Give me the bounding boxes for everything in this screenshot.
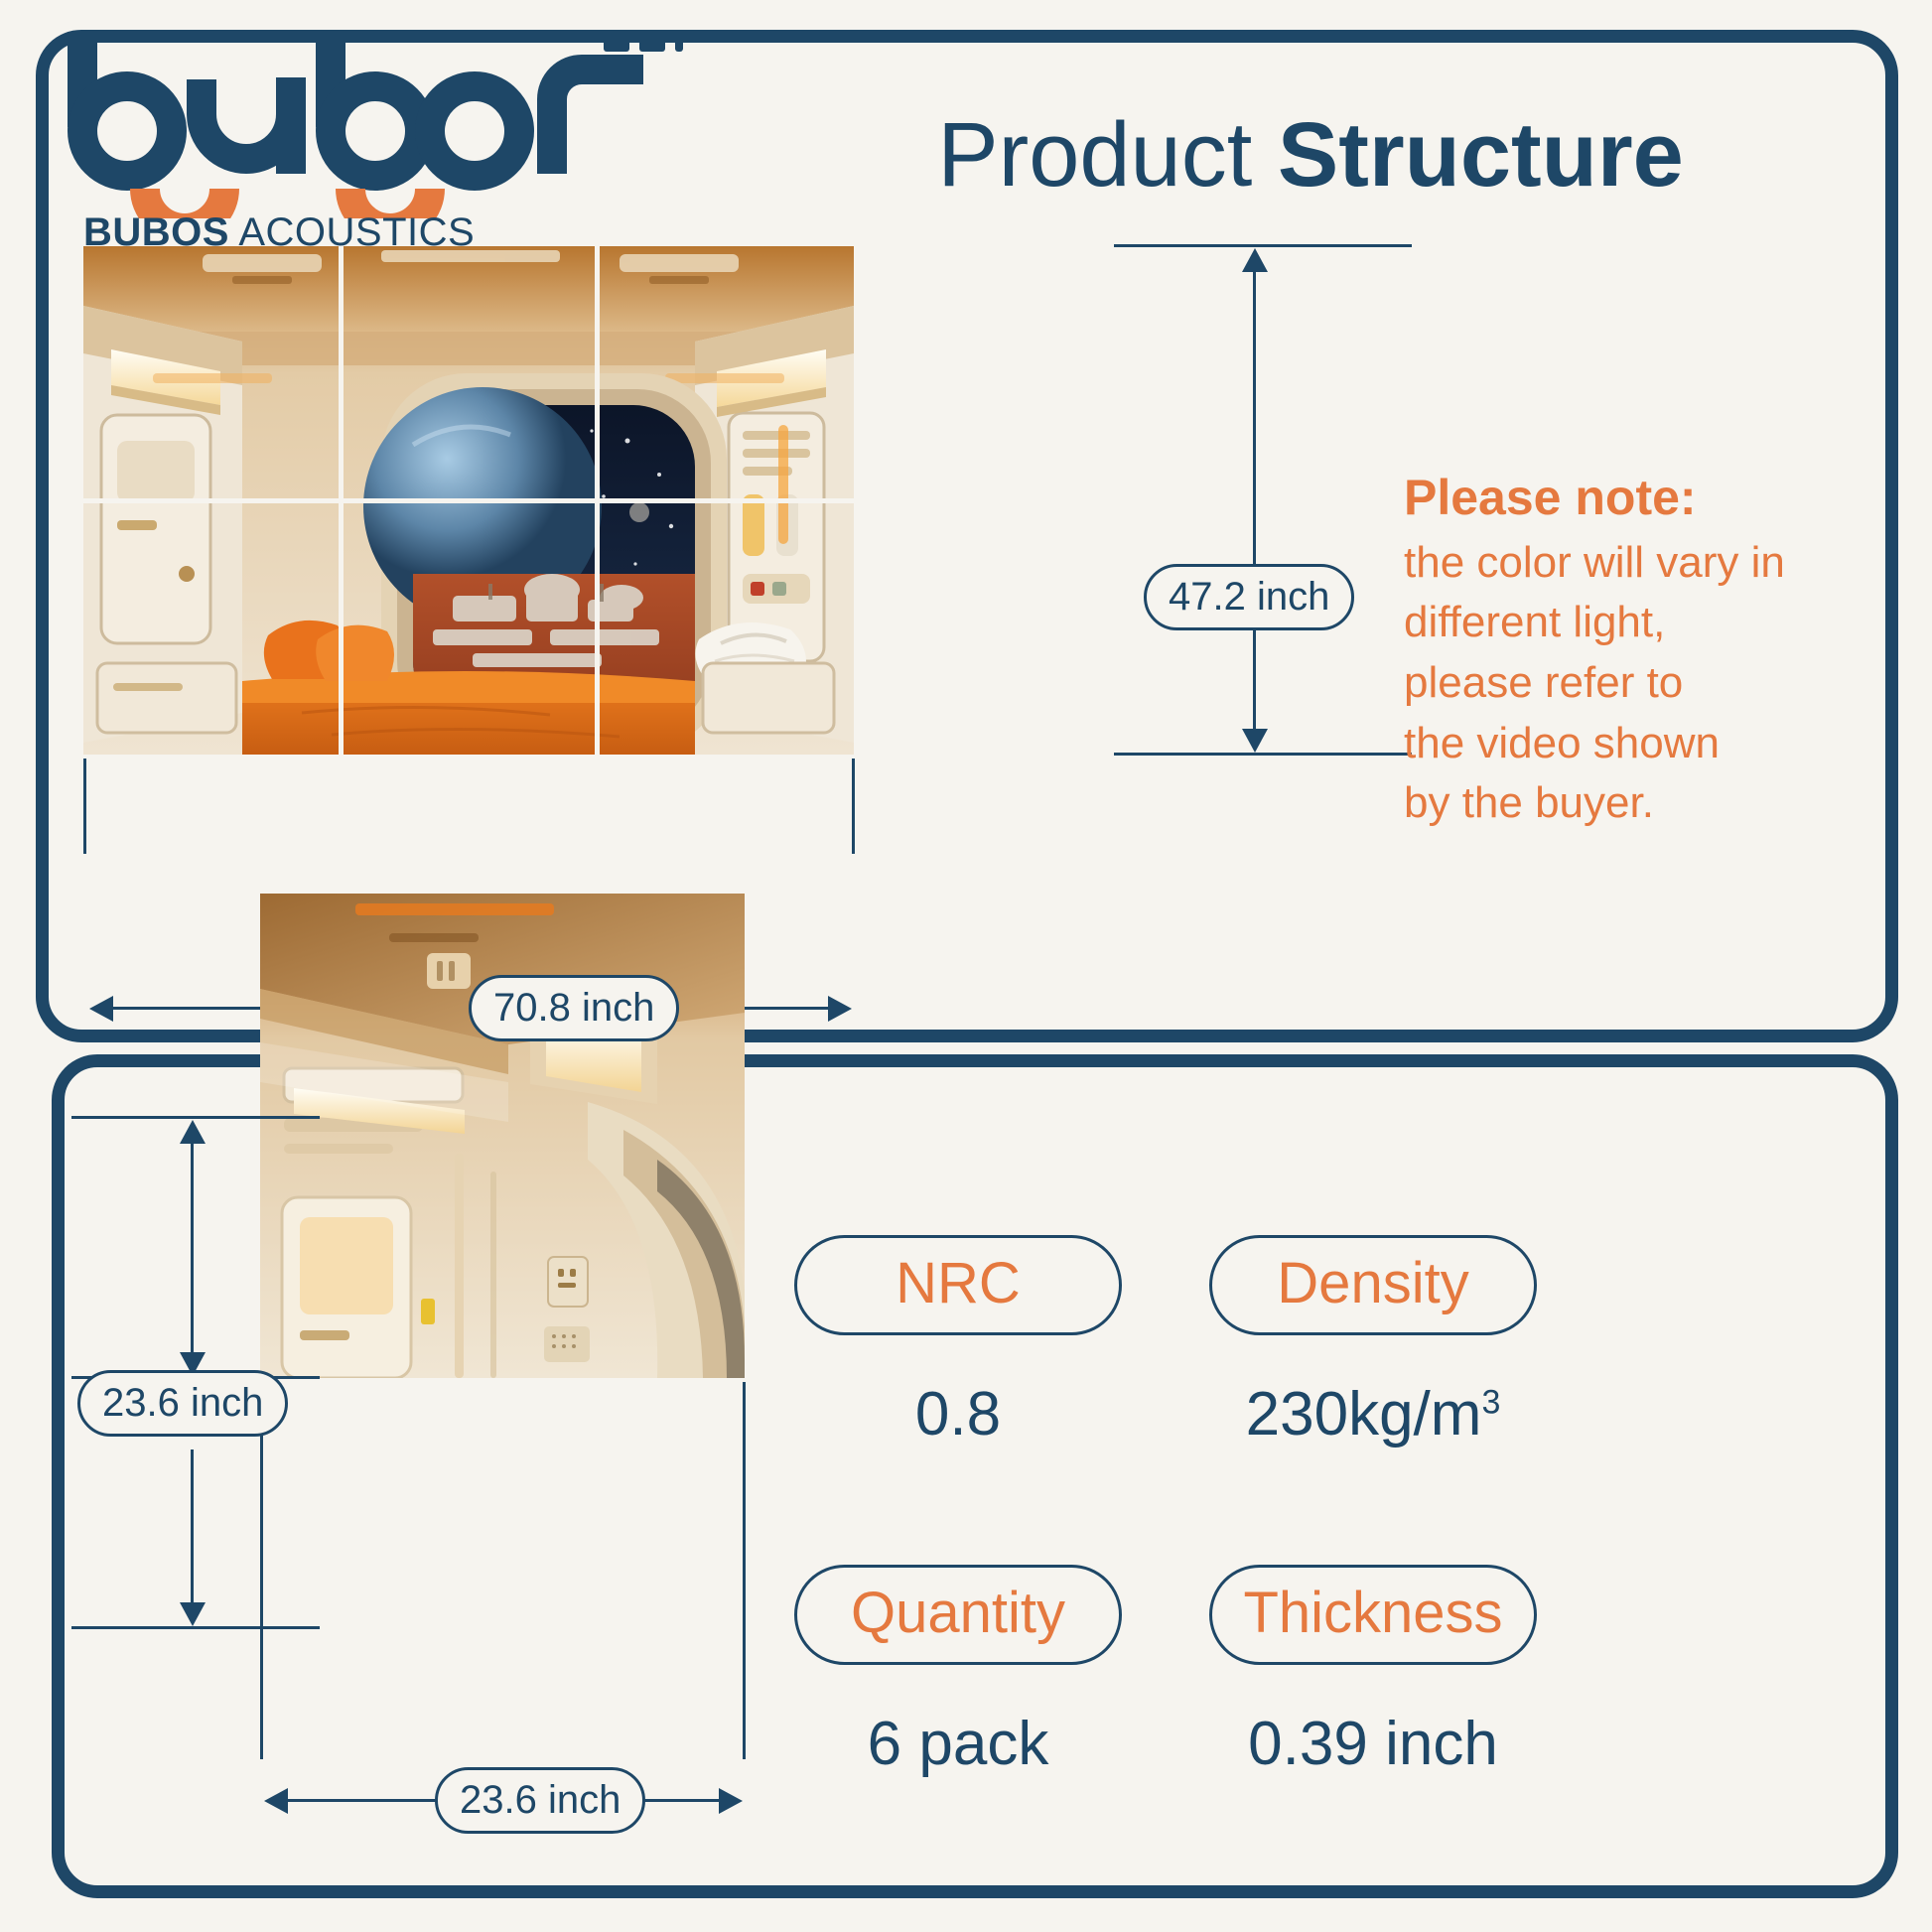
tile-dimension-arrow-up <box>180 1120 206 1144</box>
spec-value-density: 230kg/m3 <box>1209 1379 1537 1449</box>
spec-label-quantity: Quantity <box>794 1565 1122 1665</box>
spec-card-thickness: Thickness 0.39 inch <box>1209 1565 1537 1779</box>
spec-label-density: Density <box>1209 1235 1537 1335</box>
dimension-arrow-up <box>1242 248 1268 272</box>
spec-card-nrc: NRC 0.8 <box>794 1235 1122 1449</box>
spec-card-density: Density 230kg/m3 <box>1209 1235 1537 1449</box>
dimension-ext-right <box>852 759 855 854</box>
dimension-arrow-down <box>1242 729 1268 753</box>
spec-label-thickness: Thickness <box>1209 1565 1537 1665</box>
hero-product-image <box>83 246 854 755</box>
panel-seam-horizontal-1 <box>83 498 854 503</box>
bubos-logo-icon <box>48 20 683 218</box>
page-title: Product Structure <box>755 107 1866 204</box>
note-line-3: please refer to <box>1404 653 1841 714</box>
tile-dimension-ext-top <box>71 1116 320 1119</box>
tile-dimension-label-height: 23.6 inch <box>77 1370 288 1437</box>
tile-dimension-label-width: 23.6 inch <box>435 1767 645 1834</box>
dimension-label-width: 70.8 inch <box>469 975 679 1041</box>
brand-category: ACOUSTICS <box>229 210 475 254</box>
spec-value-density-exponent: 3 <box>1481 1383 1500 1421</box>
dimension-arrow-left <box>89 996 113 1022</box>
tile-dimension-line-height <box>191 1136 194 1358</box>
dimension-label-height: 47.2 inch <box>1144 564 1354 630</box>
infographic-page: BUBOS ACOUSTICS Product Structure <box>0 0 1932 1932</box>
spec-value-thickness: 0.39 inch <box>1209 1709 1537 1779</box>
brand-tagline: BUBOS ACOUSTICS <box>83 210 475 255</box>
note-line-4: the video shown <box>1404 714 1841 774</box>
note-line-2: different light, <box>1404 593 1841 653</box>
spec-label-nrc: NRC <box>794 1235 1122 1335</box>
page-title-regular: Product <box>937 104 1278 206</box>
tile-dimension-arrow-right <box>719 1788 743 1814</box>
spec-value-quantity: 6 pack <box>794 1709 1122 1779</box>
single-panel-illustration <box>260 894 745 1378</box>
dimension-line-height <box>1253 266 1256 735</box>
spec-card-quantity: Quantity 6 pack <box>794 1565 1122 1779</box>
tile-product-image <box>260 894 745 1378</box>
dimension-arrow-right <box>828 996 852 1022</box>
dimension-ext-top <box>1114 244 1412 247</box>
tile-dimension-ext-bottom2 <box>71 1626 320 1629</box>
note-line-5: by the buyer. <box>1404 773 1841 834</box>
brand-logo: BUBOS ACOUSTICS <box>48 20 683 278</box>
spec-value-density-main: 230kg/m <box>1246 1380 1482 1449</box>
note-block: Please note: the color will vary in diff… <box>1404 467 1841 834</box>
note-line-1: the color will vary in <box>1404 533 1841 594</box>
tile-dimension-ext-right <box>743 1382 746 1759</box>
tile-dimension-arrow-left <box>264 1788 288 1814</box>
dimension-ext-left <box>83 759 86 854</box>
note-title: Please note: <box>1404 467 1841 529</box>
dimension-ext-bottom <box>1114 753 1412 756</box>
tile-dimension-arrow-down-lower <box>180 1602 206 1626</box>
spec-value-nrc: 0.8 <box>794 1379 1122 1449</box>
tile-dimension-ext-left <box>260 1382 263 1759</box>
tile-dimension-line-height-lower <box>191 1449 194 1608</box>
brand-name: BUBOS <box>83 210 229 254</box>
page-title-bold: Structure <box>1278 104 1684 206</box>
